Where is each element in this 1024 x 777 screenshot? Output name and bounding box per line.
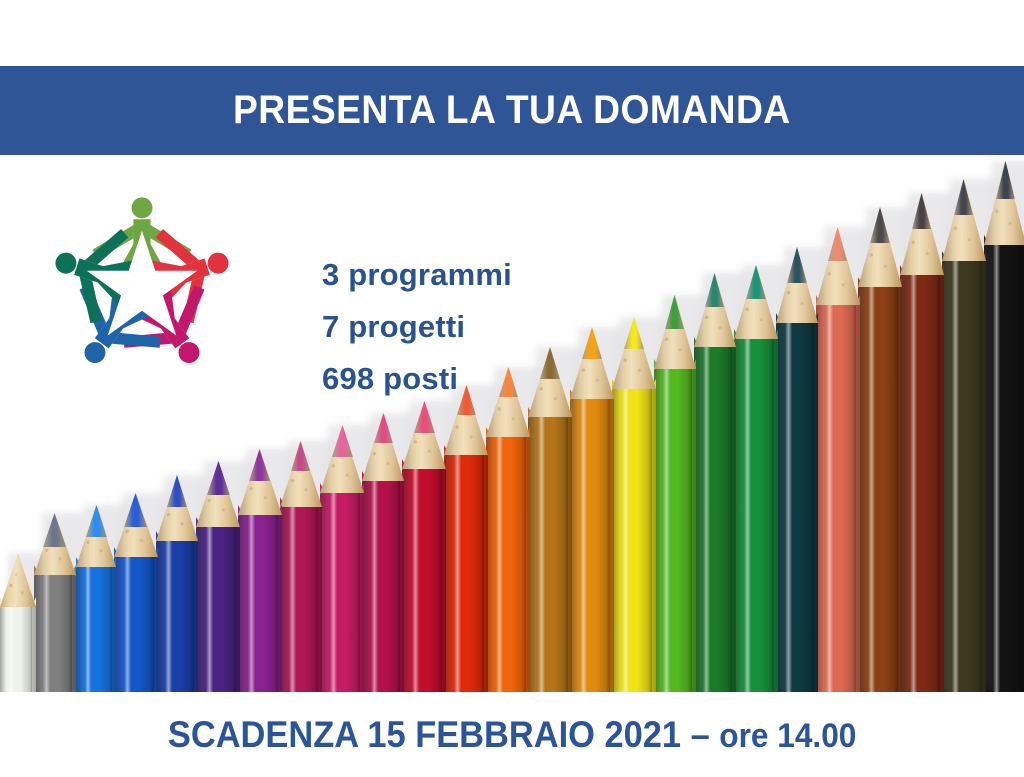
pencil-highlight [454,455,461,692]
pencil-highlight [580,399,587,692]
deadline-label: SCADENZA 15 FEBBRAIO 2021 – [168,714,719,755]
pencil-highlight [868,287,875,692]
pencil-highlight [538,417,545,692]
pencil-highlight [744,339,751,692]
stat-programmi: 3 programmi [322,249,512,301]
pencil-highlight [371,481,378,692]
pencil-edge-shade [314,507,317,692]
pencil-edge-shade [894,287,898,692]
pencil-edge-shade [564,417,568,692]
pencil-highlight [703,347,710,692]
deadline-time: ore 14.00 [719,717,856,755]
pencil-highlight [289,507,296,692]
banner-title: PRESENTA LA TUA DOMANDA [233,88,791,133]
pencil-edge-shade [978,261,982,692]
pencil-highlight [622,389,629,692]
pencil-edge-shade [274,515,278,692]
pencil-edge-shade [728,347,731,692]
pencil-edge-shade [1018,245,1021,692]
pencil-edge-shade [648,389,652,692]
deadline-text: SCADENZA 15 FEBBRAIO 2021 – ore 14.00 [168,714,856,756]
pencil-highlight [85,567,91,692]
servizio-civile-star-logo [36,185,248,385]
pencil-highlight [43,575,50,692]
pencil-edge-shade [190,541,193,692]
pencil-edge-shade [522,437,526,692]
pencil-edge-shade [30,607,33,692]
pencil-highlight [826,305,833,692]
pencil-edge-shade [396,481,399,692]
pencil-highlight [165,541,172,692]
pencil-edge-shade [356,493,360,692]
pencil-edge-shade [852,305,856,692]
pencil-highlight [785,323,792,692]
pencil-white [0,553,36,692]
pencil-edge-shade [68,575,71,692]
pencil-edge-shade [109,567,112,692]
program-stats: 3 programmi 7 progetti 698 posti [322,249,512,405]
pencil-highlight [330,493,337,692]
pencil-edge-shade [770,339,774,692]
footer-area: SCADENZA 15 FEBBRAIO 2021 – ore 14.00 [0,692,1024,777]
pencil-highlight [248,515,255,692]
header-banner: PRESENTA LA TUA DOMANDA [0,66,1024,155]
pencil-edge-shade [480,455,484,692]
pencil-highlight [910,275,917,692]
pencil-highlight [206,527,213,692]
pencil-edge-shade [606,399,610,692]
pencil-edge-shade [936,275,940,692]
top-margin [0,0,1024,66]
pencil-highlight [412,469,419,692]
pencil-edge-shade [810,323,813,692]
pencil-highlight [496,437,503,692]
main-stage: 3 programmi 7 progetti 698 posti [0,155,1024,692]
pencil-edge-shade [438,469,442,692]
pencil-edge-shade [232,527,236,692]
pencil-highlight [124,557,131,692]
pencil-highlight [663,369,670,692]
pencil-edge-shade [150,557,154,692]
pencil-edge-shade [688,369,691,692]
poster-canvas: PRESENTA LA TUA DOMANDA [0,0,1024,777]
pencil-highlight [952,261,959,692]
pencil-highlight [8,607,14,692]
pencil-highlight [993,245,1000,692]
stat-progetti: 7 progetti [322,301,512,353]
